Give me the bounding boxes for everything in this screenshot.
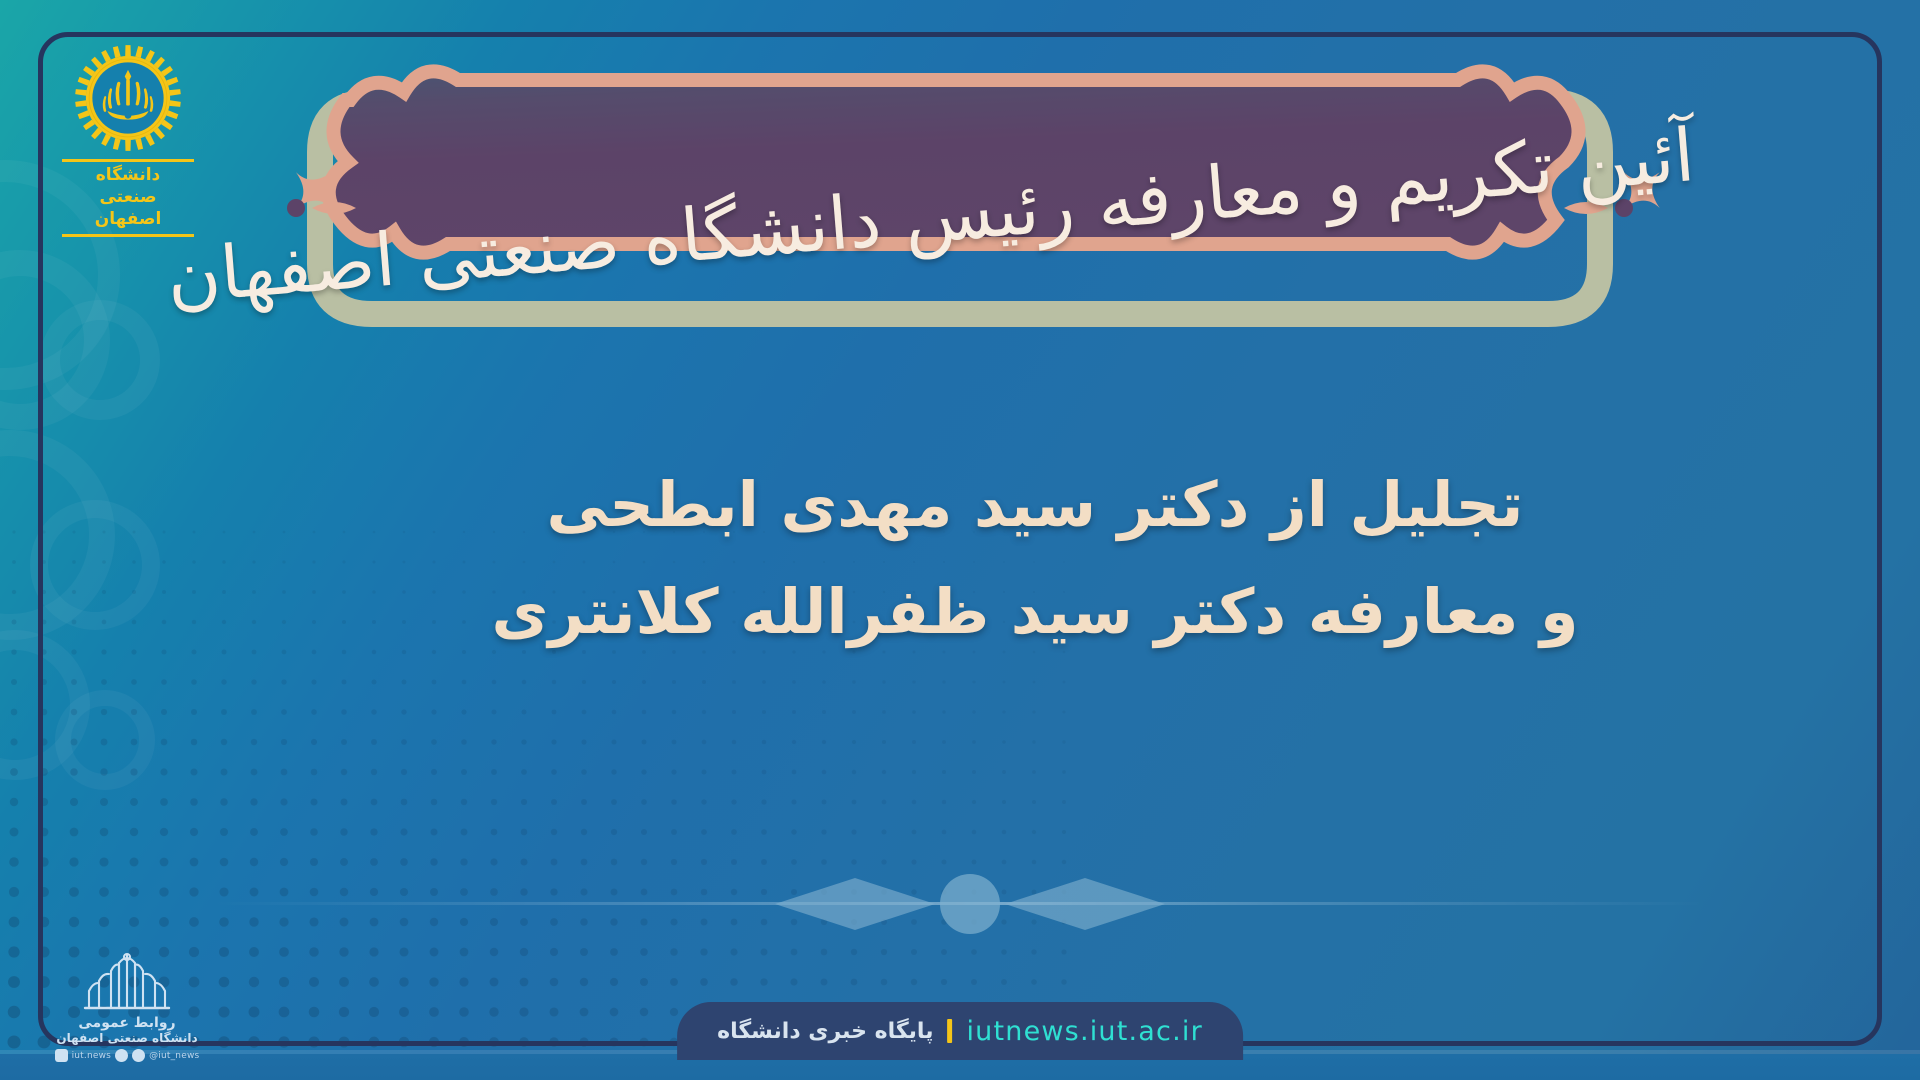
footer-news-site[interactable]: iutnews.iut.ac.ir پایگاه خبری دانشگاه: [677, 1002, 1243, 1060]
telegram-handle[interactable]: @iut_news: [149, 1051, 199, 1061]
wave-diamond-divider-icon: [215, 870, 1705, 938]
university-logo: دانشگاه صنعتی اصفهان: [62, 44, 194, 237]
telegram-icon[interactable]: [115, 1049, 128, 1062]
pr-logo-line2: دانشگاه صنعتی اصفهان: [52, 1031, 202, 1045]
university-logo-line3: اصفهان: [62, 209, 194, 231]
poster-canvas: دانشگاه صنعتی اصفهان: [0, 0, 1920, 1080]
bg-ring-watermark: [55, 690, 155, 790]
instagram-icon[interactable]: [55, 1049, 68, 1062]
university-logo-line1: دانشگاه: [62, 165, 194, 187]
iut-towers-mark-icon: [75, 951, 179, 1013]
subtitle-line-2: و معارفه دکتر سید ظفرالله کلانتری: [0, 559, 1920, 666]
pr-social-links[interactable]: iut.news @iut_news: [52, 1049, 202, 1062]
university-logo-text: دانشگاه صنعتی اصفهان: [62, 159, 194, 237]
footer-label: پایگاه خبری دانشگاه: [717, 1019, 933, 1044]
subtitle-block: تجلیل از دکتر سید مهدی ابطحی و معارفه دک…: [0, 452, 1920, 665]
eitaa-icon[interactable]: [132, 1049, 145, 1062]
instagram-handle[interactable]: iut.news: [72, 1051, 112, 1061]
subtitle-line-1: تجلیل از دکتر سید مهدی ابطحی: [0, 452, 1920, 559]
news-site-url[interactable]: iutnews.iut.ac.ir: [966, 1016, 1202, 1047]
title-plaque: آئین تکریم و معارفه رئیس دانشگاه صنعتی ا…: [200, 48, 1720, 368]
pr-logo-line1: روابط عمومی: [52, 1015, 202, 1031]
university-logo-line2: صنعتی: [62, 187, 194, 209]
footer-separator-icon: [947, 1019, 952, 1043]
public-relations-logo: روابط عمومی دانشگاه صنعتی اصفهان iut.new…: [52, 951, 202, 1062]
bg-ring-watermark: [40, 300, 160, 420]
iut-gear-seal-icon: [74, 44, 182, 152]
bg-ring-watermark: [0, 250, 110, 430]
